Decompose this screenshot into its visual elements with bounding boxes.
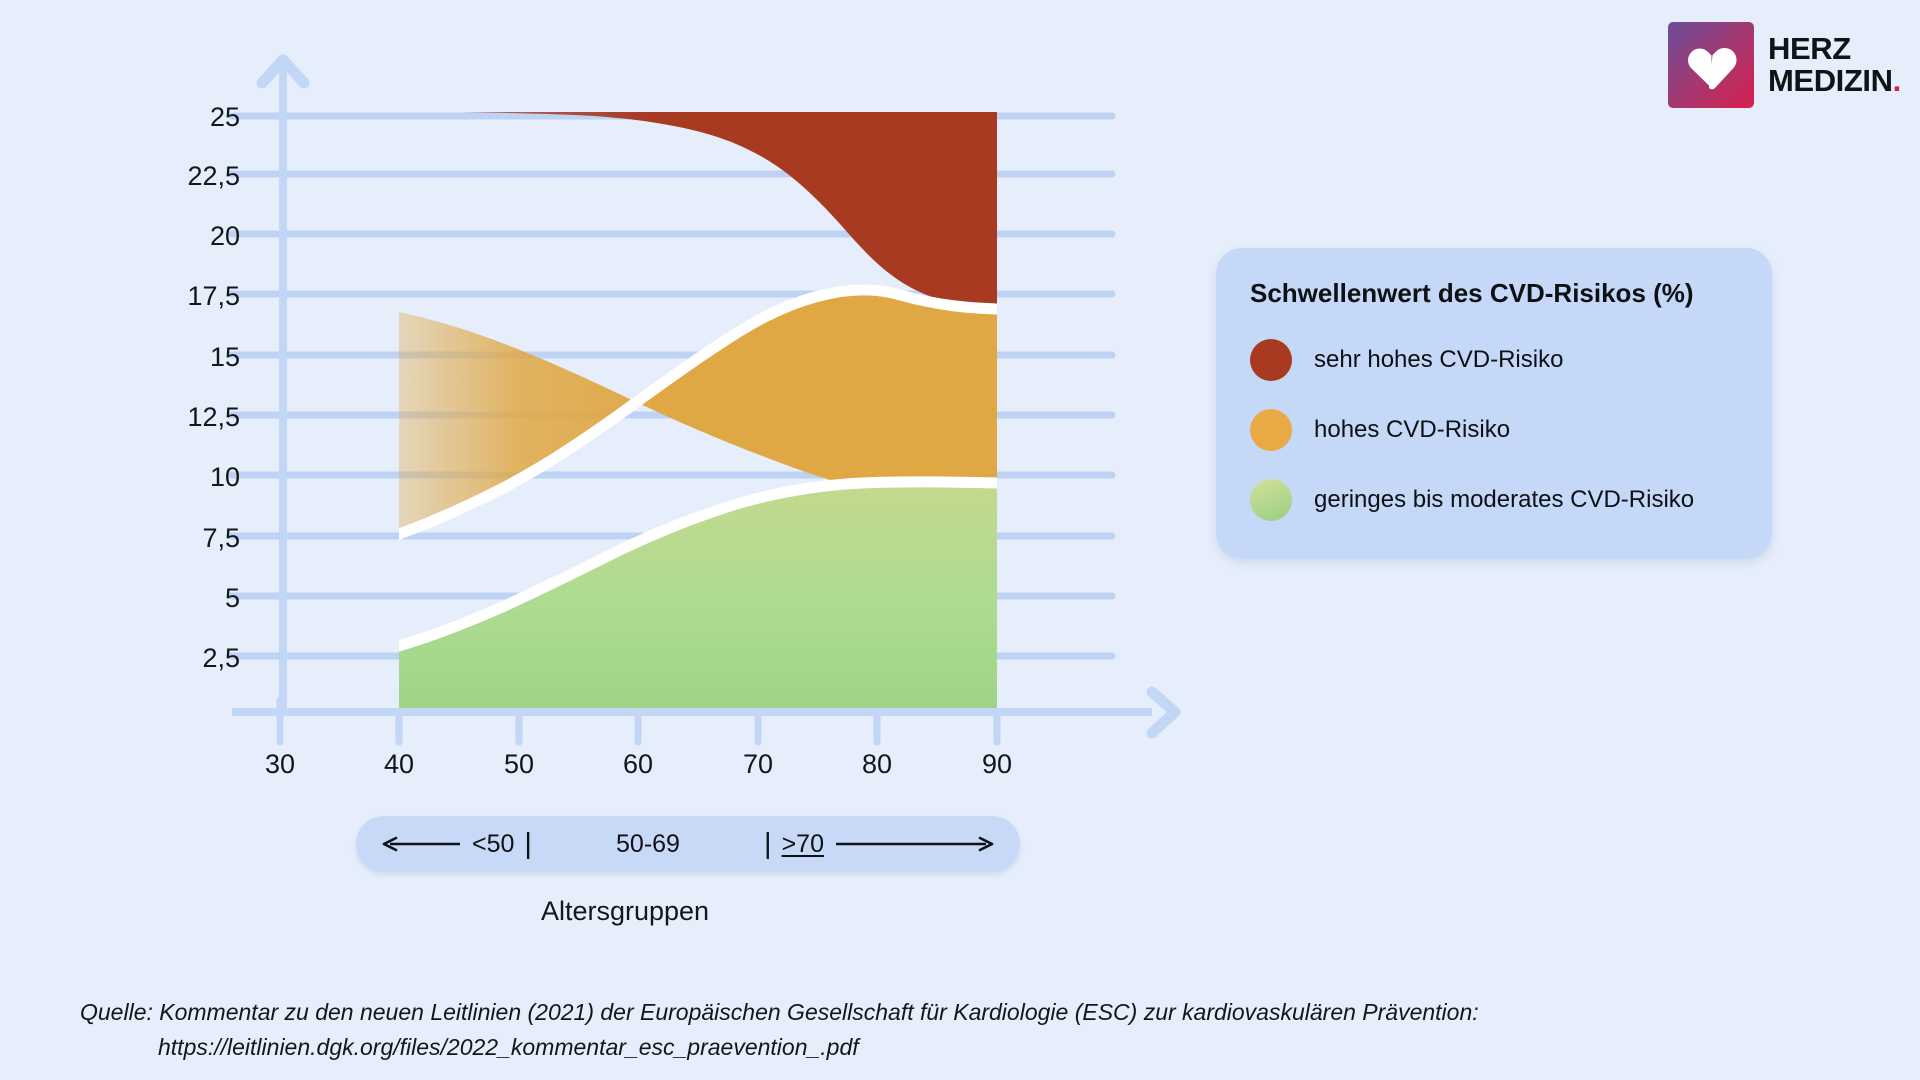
x-tick-label: 70	[743, 749, 773, 779]
band-very-high-risk	[399, 112, 997, 309]
heart-icon	[1668, 22, 1754, 108]
source-url[interactable]: https://leitlinien.dgk.org/files/2022_ko…	[158, 1030, 1780, 1065]
age-group-young-label: <50	[472, 830, 514, 859]
legend-item-low[interactable]: geringes bis moderates CVD-Risiko	[1250, 479, 1738, 521]
left-arrow-icon	[382, 833, 462, 855]
legend-label-high: hohes CVD-Risiko	[1314, 416, 1510, 444]
y-tick-label: 12,5	[187, 402, 240, 432]
logo-wordmark: HERZ MEDIZIN.	[1768, 33, 1901, 97]
chart-svg: 25 22,5 20 17,5 15 12,5 10 7,5 5 2,5 30 …	[0, 0, 1250, 800]
y-tick-label: 25	[210, 102, 240, 132]
x-tick-label: 60	[623, 749, 653, 779]
logo-line-1: HERZ	[1768, 33, 1901, 65]
x-tick-label: 80	[862, 749, 892, 779]
y-tick-label: 17,5	[187, 281, 240, 311]
age-group-band: <50 | 50-69 | >70	[356, 816, 1020, 872]
x-tick-label: 40	[384, 749, 414, 779]
age-group-middle-label: 50-69	[616, 830, 680, 859]
legend-label-very-high: sehr hohes CVD-Risiko	[1314, 346, 1563, 374]
x-tick-label: 30	[265, 749, 295, 779]
legend-swatch-high-icon	[1250, 409, 1292, 451]
x-tick-labels: 30 40 50 60 70 80 90	[265, 749, 1012, 779]
x-tick-label: 50	[504, 749, 534, 779]
logo-dot: .	[1893, 63, 1901, 98]
x-tick-label: 90	[982, 749, 1012, 779]
y-tick-label: 7,5	[202, 523, 240, 553]
y-tick-label: 15	[210, 342, 240, 372]
y-tick-label: 2,5	[202, 643, 240, 673]
brand-logo: HERZ MEDIZIN.	[1668, 22, 1901, 108]
age-group-old: | >70	[764, 830, 994, 859]
source-text: Quelle: Kommentar zu den neuen Leitlinie…	[80, 999, 1479, 1025]
y-axis	[262, 60, 304, 716]
age-group-middle: 50-69	[616, 830, 680, 859]
legend-label-low: geringes bis moderates CVD-Risiko	[1314, 486, 1694, 514]
y-tick-label: 20	[210, 221, 240, 251]
source-note: Quelle: Kommentar zu den neuen Leitlinie…	[80, 995, 1780, 1064]
legend-panel: Schwellenwert des CVD-Risikos (%) sehr h…	[1216, 248, 1772, 559]
legend-item-very-high[interactable]: sehr hohes CVD-Risiko	[1250, 339, 1738, 381]
logo-line-2: MEDIZIN.	[1768, 65, 1901, 97]
right-arrow-icon	[834, 833, 994, 855]
age-group-young: <50 |	[382, 830, 532, 859]
legend-title: Schwellenwert des CVD-Risikos (%)	[1250, 278, 1738, 309]
logo-line-2-text: MEDIZIN	[1768, 63, 1893, 98]
legend-swatch-very-high-icon	[1250, 339, 1292, 381]
risk-threshold-chart: 25 22,5 20 17,5 15 12,5 10 7,5 5 2,5 30 …	[0, 0, 1250, 800]
age-group-old-label: >70	[782, 830, 824, 859]
y-tick-label: 22,5	[187, 161, 240, 191]
x-axis-title: Altersgruppen	[0, 896, 1250, 927]
y-tick-labels: 25 22,5 20 17,5 15 12,5 10 7,5 5 2,5	[187, 102, 240, 673]
y-tick-label: 10	[210, 462, 240, 492]
y-tick-label: 5	[225, 583, 240, 613]
age-divider-2: |	[764, 830, 772, 859]
legend-item-high[interactable]: hohes CVD-Risiko	[1250, 409, 1738, 451]
age-divider-1: |	[524, 830, 532, 859]
legend-swatch-low-icon	[1250, 479, 1292, 521]
